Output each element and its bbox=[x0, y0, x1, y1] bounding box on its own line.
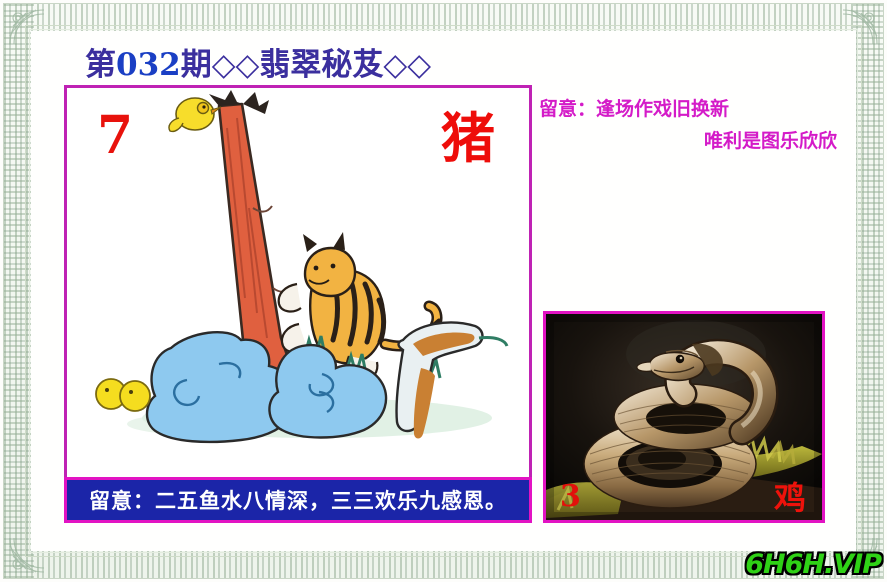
content-sheet: 第032期◇◇翡翠秘芨◇◇ bbox=[31, 31, 856, 551]
note-bar-text: 留意：二五鱼水八情深，三三欢乐九感恩。 bbox=[89, 485, 507, 515]
photo-zodiac: 鸡 bbox=[774, 482, 806, 514]
diamond-separator-right: ◇◇ bbox=[383, 47, 431, 83]
main-picture-panel[interactable]: 7 猪 bbox=[64, 85, 532, 523]
illustration-stage: 7 猪 bbox=[67, 88, 529, 520]
issue-number: 032 bbox=[116, 47, 181, 83]
title-name: 翡翠秘芨 bbox=[259, 47, 383, 83]
poster-page: 第032期◇◇翡翠秘芨◇◇ bbox=[0, 0, 887, 582]
note-bar: 留意：二五鱼水八情深，三三欢乐九感恩。 bbox=[64, 477, 532, 523]
title-mid: 期 bbox=[181, 47, 212, 83]
snake-photo-panel[interactable]: 3 鸡 bbox=[543, 311, 825, 523]
page-title: 第032期◇◇翡翠秘芨◇◇ bbox=[85, 39, 431, 84]
side-note-line2: 唯利是图乐欣欣 bbox=[539, 125, 839, 157]
side-note-line1: 留意：逢场作戏旧换新 bbox=[539, 98, 729, 120]
site-watermark: 6H6H.VIP bbox=[745, 549, 881, 580]
title-prefix: 第 bbox=[85, 47, 116, 83]
picture-number: 7 bbox=[97, 110, 133, 162]
diamond-separator-left: ◇◇ bbox=[212, 47, 260, 83]
side-note: 留意：逢场作戏旧换新 唯利是图乐欣欣 bbox=[539, 93, 839, 157]
photo-number: 3 bbox=[560, 482, 581, 512]
picture-zodiac: 猪 bbox=[441, 112, 495, 166]
